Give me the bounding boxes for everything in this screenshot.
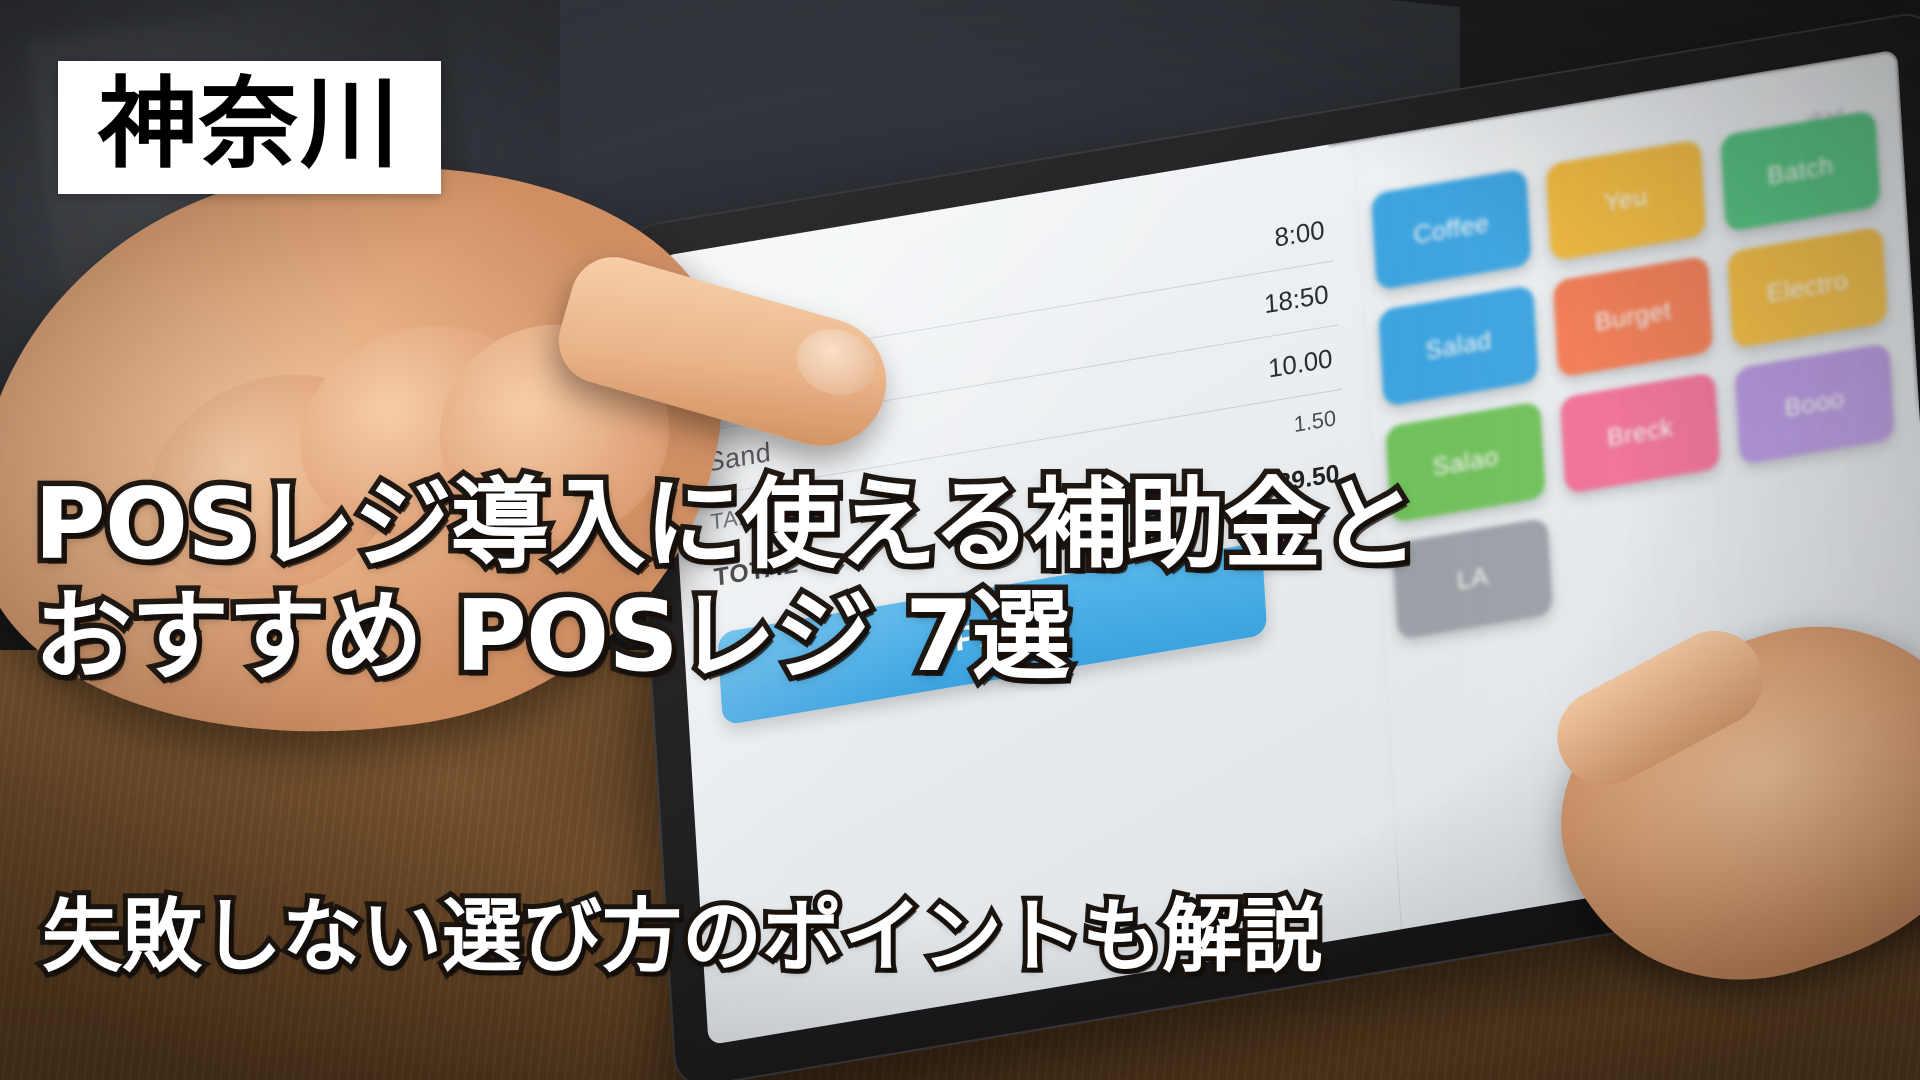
headline-line-1: POSレジ導入に使える補助金と <box>34 470 1594 582</box>
headline-line-2: おすすめ POSレジ 7選 <box>34 582 1594 694</box>
tax-value: 1.50 <box>1293 405 1337 438</box>
product-tile[interactable]: Batch <box>1720 110 1881 232</box>
product-tile[interactable]: Booo <box>1734 343 1895 465</box>
subtitle: 失敗しない選び方のポイントも解説 <box>42 893 1602 981</box>
headline: POSレジ導入に使える補助金と おすすめ POSレジ 7選 <box>34 470 1594 693</box>
product-tile[interactable]: Salad <box>1378 285 1539 407</box>
order-item-price: 8:00 <box>1274 214 1326 253</box>
product-tile[interactable]: Electro <box>1727 226 1888 348</box>
product-tile[interactable]: Coffee <box>1371 168 1532 290</box>
region-badge-label: 神奈川 <box>98 75 401 176</box>
order-item-price: 18:50 <box>1263 279 1329 321</box>
hero-banner: iPad Coffee 8:00 Saled 18:50 Sa <box>0 0 1920 1080</box>
region-badge: 神奈川 <box>58 61 441 194</box>
order-item-price: 10.00 <box>1267 343 1333 385</box>
product-tile[interactable]: Burget <box>1553 256 1714 378</box>
product-tile[interactable]: Yeu <box>1546 139 1707 261</box>
